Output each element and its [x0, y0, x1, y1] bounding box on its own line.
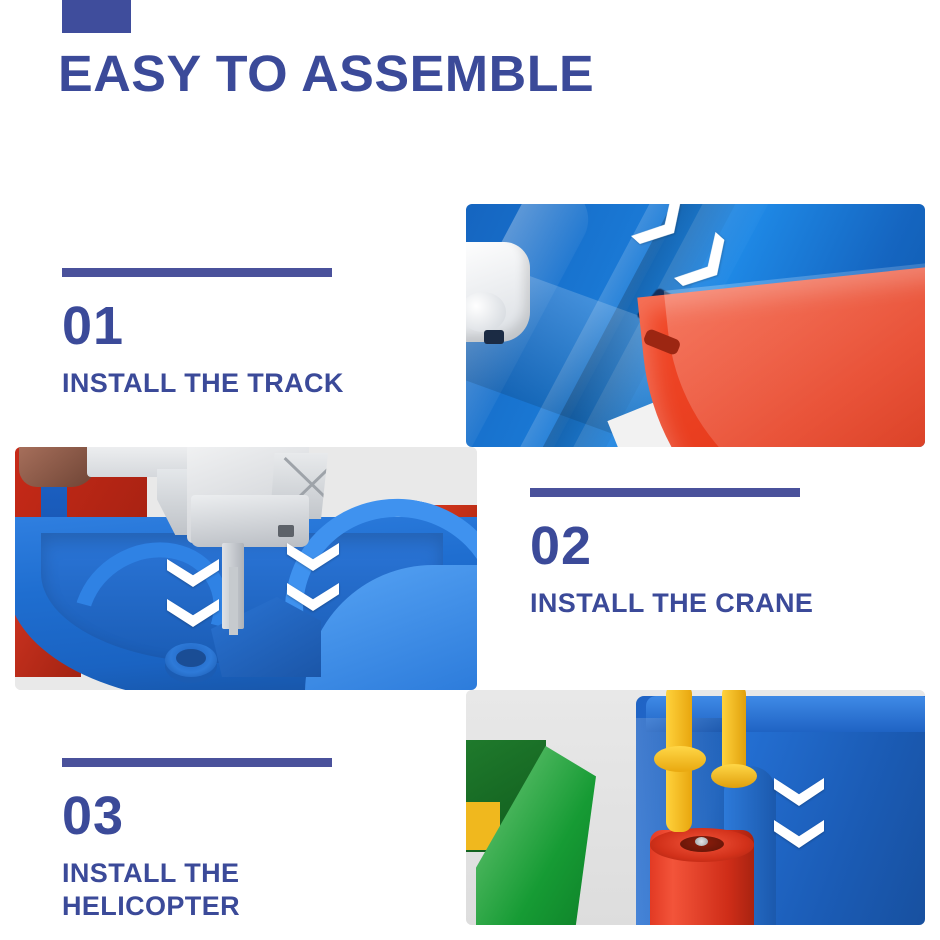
helicopter-photo-scene [466, 690, 925, 925]
step-block-02: 02 INSTALL THE CRANE [530, 488, 813, 620]
hand [19, 447, 97, 487]
step-block-03: 03 INSTALL THE HELICOPTER [62, 758, 362, 923]
step-number: 03 [62, 789, 362, 843]
yellow-pole-collar [711, 764, 757, 788]
crane-photo-scene [15, 447, 477, 690]
page-title: EASY TO ASSEMBLE [58, 44, 594, 104]
helicopter-assembly-photo [466, 690, 925, 925]
header-accent-mark [62, 0, 131, 33]
step-label: INSTALL THE HELICOPTER [62, 857, 362, 923]
step-block-01: 01 INSTALL THE TRACK [62, 268, 344, 400]
crane-mast-peg [229, 567, 238, 635]
track-photo-scene [466, 204, 925, 447]
crane-head [191, 495, 309, 547]
mounting-tube-hole [176, 649, 206, 667]
step-label: INSTALL THE CRANE [530, 587, 813, 620]
assembly-instructions-page: EASY TO ASSEMBLE 01 INSTALL THE TRACK 02… [0, 0, 940, 940]
step-label: INSTALL THE TRACK [62, 367, 344, 400]
red-track-highlight [664, 258, 925, 447]
yellow-pole-collar [654, 746, 706, 772]
step-rule [62, 268, 332, 277]
crane-window [278, 525, 294, 537]
step-number: 01 [62, 299, 344, 353]
step-number: 02 [530, 519, 813, 573]
step-rule [62, 758, 332, 767]
track-assembly-photo [466, 204, 925, 447]
crane-assembly-photo [15, 447, 477, 690]
connector-tab [484, 330, 504, 344]
step-rule [530, 488, 800, 497]
screw-icon [695, 837, 708, 846]
